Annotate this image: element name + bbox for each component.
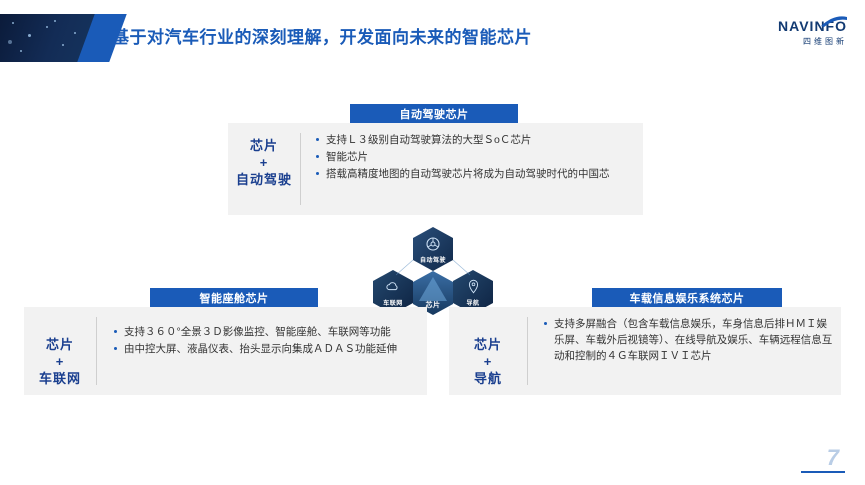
top-card-left-label-line3: 自动驾驶: [232, 171, 296, 188]
center-right-label: 导航: [453, 298, 493, 307]
left-card-left-label-line2: +: [28, 353, 92, 370]
list-item: 智能芯片: [326, 149, 632, 165]
right-card-left-label-line3: 导航: [453, 370, 523, 387]
page-number: 7: [827, 445, 839, 471]
top-card-bullets: 支持Ｌ３级别自动驾驶算法的大型ＳoＣ芯片 智能芯片 搭载高精度地图的自动驾驶芯片…: [312, 132, 632, 183]
slide: 基于对汽车行业的深刻理解，开发面向未来的智能芯片 NAVINFO 四维图新 自动…: [0, 0, 865, 485]
header-band: 基于对汽车行业的深刻理解，开发面向未来的智能芯片: [0, 14, 865, 62]
location-pin-icon: [466, 279, 481, 294]
right-card-left-label-line1: 芯片: [453, 336, 523, 353]
left-card-bullets: 支持３６０°全景３Ｄ影像监控、智能座舱、车联网等功能 由中控大屏、液晶仪表、抬头…: [110, 324, 420, 358]
center-left-label: 车联网: [373, 298, 413, 307]
center-top-label: 自动驾驶: [413, 255, 453, 264]
left-card-caption: 智能座舱芯片: [150, 288, 318, 307]
page-title: 基于对汽车行业的深刻理解，开发面向未来的智能芯片: [108, 14, 532, 62]
top-card-left-label: 芯片 + 自动驾驶: [232, 137, 296, 188]
list-item: 支持３６０°全景３Ｄ影像监控、智能座舱、车联网等功能: [124, 324, 420, 340]
top-card-left-label-line2: +: [232, 154, 296, 171]
right-card-divider: [527, 317, 528, 385]
left-card-divider: [96, 317, 97, 385]
brand-logo: NAVINFO 四维图新: [778, 18, 847, 47]
logo-subtext: 四维图新: [778, 36, 847, 47]
right-card-left-label: 芯片 + 导航: [453, 336, 523, 387]
list-item: 由中控大屏、液晶仪表、抬头显示向集成ＡＤＡＳ功能延伸: [124, 341, 420, 357]
logo-swoosh-icon: [821, 16, 847, 28]
network-icon: [385, 279, 400, 294]
top-card-caption: 自动驾驶芯片: [350, 104, 518, 123]
top-card-divider: [300, 133, 301, 205]
top-card-left-label-line1: 芯片: [232, 137, 296, 154]
right-card-bullets: 支持多屏融合（包含车载信息娱乐，车身信息后排ＨＭＩ娱乐屏、车载外后视镜等）、在线…: [540, 316, 835, 365]
list-item: 支持多屏融合（包含车载信息娱乐，车身信息后排ＨＭＩ娱乐屏、车载外后视镜等）、在线…: [554, 316, 835, 364]
left-card-left-label-line1: 芯片: [28, 336, 92, 353]
left-card-left-label-line3: 车联网: [28, 370, 92, 387]
list-item: 支持Ｌ３级别自动驾驶算法的大型ＳoＣ芯片: [326, 132, 632, 148]
list-item: 搭载高精度地图的自动驾驶芯片将成为自动驾驶时代的中国芯: [326, 166, 632, 182]
right-card-caption: 车载信息娱乐系统芯片: [592, 288, 782, 307]
left-card-left-label: 芯片 + 车联网: [28, 336, 92, 387]
steering-wheel-icon: [425, 236, 441, 252]
page-number-rule: [801, 471, 845, 473]
right-card-left-label-line2: +: [453, 353, 523, 370]
